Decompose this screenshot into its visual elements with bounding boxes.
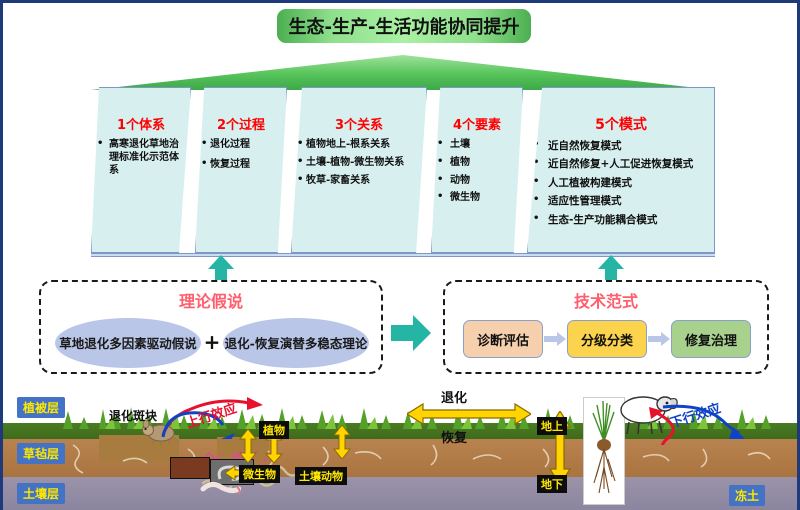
pillar-3-list: 植物地上-根系关系 土壤-植物-微生物关系 牧草-家畜关系 — [296, 139, 422, 187]
pillar-1-title: 1个体系 — [96, 114, 186, 133]
list-item: 近自然修复+人工促进恢复模式 — [532, 158, 710, 171]
pillar-1-list: 高寒退化草地治理标准化示范体系 — [96, 139, 186, 177]
theory-hypothesis-box: 理论假说 草地退化多因素驱动假说 + 退化-恢复演替多稳态理论 — [39, 280, 383, 374]
label-above-ground: 地上 — [537, 417, 567, 435]
list-item: 人工植被构建模式 — [532, 177, 710, 190]
figure-title-text: 生态-生产-生活功能协同提升 — [289, 13, 520, 39]
larva-icon — [199, 479, 241, 497]
pillar-3-title: 3个关系 — [296, 114, 422, 133]
pillar-2-list: 退化过程 恢复过程 — [200, 139, 282, 172]
list-item: 植物 — [436, 157, 518, 170]
theory-ellipse-left: 草地退化多因素驱动假说 — [55, 318, 201, 368]
theory-ellipse-right: 退化-恢复演替多稳态理论 — [223, 318, 369, 368]
soil-animal-photo-1 — [170, 457, 210, 479]
label-below-ground: 地下 — [537, 475, 567, 493]
list-item: 恢复过程 — [200, 159, 282, 172]
figure-title-banner: 生态-生产-生活功能协同提升 — [277, 9, 531, 43]
pillar-1-system[interactable]: 1个体系 高寒退化草地治理标准化示范体系 — [91, 87, 191, 253]
grassland-cross-section-illustration: 植被层 草毡层 土壤层 冻土 退化斑块 上行效应 下行效应 植物 微生物 土壤动… — [3, 391, 797, 510]
plant-microbe-arrow — [239, 429, 257, 463]
green-roof-shape — [91, 55, 715, 90]
technique-paradigm-box: 技术范式 诊断评估 分级分类 修复治理 — [443, 280, 769, 374]
list-item: 土壤 — [436, 139, 518, 152]
pillar-4-list: 土壤 植物 动物 微生物 — [436, 139, 518, 205]
label-degraded-patch: 退化斑块 — [109, 407, 157, 424]
list-item: 微生物 — [436, 192, 518, 205]
list-item: 适应性管理模式 — [532, 195, 710, 208]
label-degradation: 退化 — [441, 391, 467, 406]
list-item: 动物 — [436, 175, 518, 188]
pillar-4-title: 4个要素 — [436, 114, 518, 133]
pillars-group: 1个体系 高寒退化草地治理标准化示范体系 2个过程 退化过程 恢复过程 3个关系… — [91, 87, 715, 253]
label-soil-animal: 土壤动物 — [295, 467, 347, 485]
list-item: 植物地上-根系关系 — [296, 139, 422, 152]
pillar-3-relations[interactable]: 3个关系 植物地上-根系关系 土壤-植物-微生物关系 牧草-家畜关系 — [291, 87, 427, 253]
label-plant: 植物 — [259, 421, 289, 439]
list-item: 牧草-家畜关系 — [296, 175, 422, 188]
label-microbe: 微生物 — [239, 465, 280, 483]
list-item: 生态-生产功能耦合模式 — [532, 214, 710, 227]
pillar-5-list: 近自然恢复模式 近自然修复+人工促进恢复模式 人工植被构建模式 适应性管理模式 … — [532, 140, 710, 227]
pillar-4-elements[interactable]: 4个要素 土壤 植物 动物 微生物 — [431, 87, 523, 253]
layer-label-soil: 土壤层 — [17, 483, 65, 504]
list-item: 土壤-植物-微生物关系 — [296, 157, 422, 170]
technique-title: 技术范式 — [445, 288, 767, 312]
technique-chip-restoration[interactable]: 修复治理 — [671, 320, 751, 358]
layer-label-frozen-soil: 冻土 — [729, 485, 765, 506]
technique-chip-diagnosis[interactable]: 诊断评估 — [463, 320, 543, 358]
microbe-root-arrow — [333, 425, 351, 459]
arrow-right-icon-step1 — [544, 332, 566, 346]
label-restoration: 恢复 — [441, 427, 467, 446]
layer-label-vegetation: 植被层 — [17, 397, 65, 418]
list-item: 近自然恢复模式 — [532, 140, 710, 153]
pillar-5-title: 5个模式 — [532, 114, 710, 134]
degradation-restoration-arrow — [407, 401, 531, 427]
pillar-2-process[interactable]: 2个过程 退化过程 恢复过程 — [195, 87, 287, 253]
list-item: 高寒退化草地治理标准化示范体系 — [96, 139, 186, 177]
pillar-2-title: 2个过程 — [200, 114, 282, 133]
arrow-right-icon-step2 — [648, 332, 670, 346]
plus-sign: + — [201, 330, 223, 354]
list-item: 退化过程 — [200, 139, 282, 152]
pillar-5-models[interactable]: 5个模式 近自然恢复模式 近自然修复+人工促进恢复模式 人工植被构建模式 适应性… — [527, 87, 715, 253]
layer-label-felt: 草毡层 — [17, 443, 65, 464]
technique-chip-classification[interactable]: 分级分类 — [567, 320, 647, 358]
theory-title: 理论假说 — [41, 288, 381, 312]
soil-band — [3, 477, 797, 510]
figure-root: 生态-生产-生活功能协同提升 1个体系 高寒退化草地治理标准化示范体系 2个过程… — [0, 0, 800, 510]
arrow-right-icon-flow — [391, 315, 431, 351]
